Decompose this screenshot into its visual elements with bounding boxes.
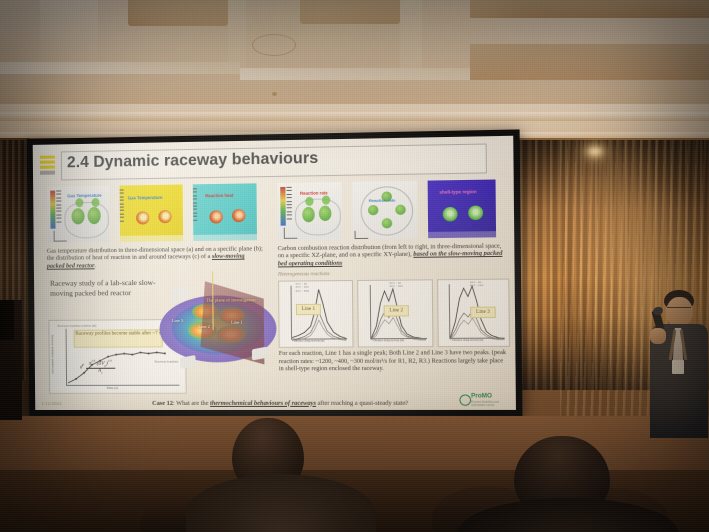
legend-item: R3 C + H2O	[296, 289, 309, 293]
thumb-label: Reaction rate	[369, 198, 396, 204]
render-label-plane: The plane of investigation	[206, 297, 255, 302]
footer-case-question: Case 12: What are the thermochemical beh…	[152, 399, 408, 406]
presentation-slide: 2.4 Dynamic raceway behaviours Gas Tempe…	[33, 136, 516, 410]
ceiling-coffer-edge	[40, 0, 98, 62]
case-emphasis: thermochemical behaviours of raceways	[210, 399, 316, 406]
ceiling-beam	[240, 68, 470, 80]
thumb-gas-temperature-plane: Gas Temperature	[120, 185, 184, 242]
render-label-line3: Line 3	[172, 318, 184, 323]
ceiling-beam	[0, 62, 240, 74]
caption-right: Carbon combustion reaction distribution …	[278, 243, 505, 268]
presenter-head	[666, 297, 693, 327]
thumb-label: Gas Temperature	[128, 195, 163, 201]
ceiling-coffer-recess	[128, 0, 228, 26]
chart-3-x-label: Distance along raceway (m)	[452, 339, 483, 342]
left-speaker-box	[0, 300, 14, 340]
presenter	[648, 288, 709, 438]
thumb-gas-temperature-3d: Gas Temperature	[47, 186, 110, 243]
presenter-badge	[672, 360, 684, 374]
raceway-3d-render: The plane of investigation Line 3 Line 2…	[155, 268, 281, 382]
ceiling-sprinkler	[272, 92, 277, 96]
promo-ring-icon	[459, 394, 471, 405]
promo-logo: ProMO Process Modelling and Optimisation…	[459, 392, 510, 408]
findings-text: For each reaction, Line 1 has a single p…	[279, 350, 508, 374]
thumb-reaction-rate-xz: Reaction rate	[352, 181, 418, 239]
conference-room-photo: 2.4 Dynamic raceway behaviours Gas Tempe…	[0, 0, 709, 532]
ceiling-coffer-recess	[300, 0, 400, 24]
ceiling-coffer-recess	[470, 44, 709, 80]
chart-2-title: Line 2	[384, 305, 409, 316]
chart-1-legend: R1 C + O2 R2 C + CO2 R3 C + H2O	[296, 282, 309, 292]
ceiling-coffer-recess	[470, 0, 709, 18]
promo-logo-text: ProMO	[471, 393, 492, 399]
case-text-a: : What are the	[173, 399, 210, 406]
audience-member-front-right	[472, 436, 662, 532]
chart-line-2: Line 2 R1 C + O2 R2 C + CO2 Distance alo…	[357, 279, 433, 347]
ceiling-vent-circle	[252, 34, 296, 56]
ceiling-spotlight	[588, 148, 602, 155]
slide-number: 33	[401, 401, 406, 406]
chart-line-1: Line 1 R1 C + O2 R2 C + CO2 R3 C + H2O D…	[278, 280, 354, 348]
projection-screen: 2.4 Dynamic raceway behaviours Gas Tempe…	[27, 129, 523, 416]
presenter-hand	[650, 328, 666, 344]
chart-x-axis-label: Time (s)	[106, 386, 118, 390]
caption-left-tail: .	[94, 263, 96, 269]
chart-3-legend: R1 C + O2 R2 C + CO2	[470, 281, 483, 288]
ceiling-coffer-edge	[228, 0, 246, 68]
chart-line-3: Line 3 R1 C + O2 R2 C + CO2 Distance alo…	[437, 279, 510, 348]
formula-raceway: dp π2/3 (6Vp)1/3 As	[80, 359, 115, 375]
footer-date: 1/12/2024	[41, 401, 62, 406]
microphone-head-icon	[652, 306, 664, 316]
thumb-label: Reaction rate	[300, 190, 328, 196]
caption-left: Gas temperature distribution in three-di…	[47, 246, 264, 271]
case-prefix: Case 12	[152, 399, 173, 406]
subhead-heterogeneous-reactions: Heterogeneous reactions	[278, 272, 330, 279]
legend-item: R2 C + CO2	[390, 285, 403, 289]
chart-2-legend: R1 C + O2 R2 C + CO2	[390, 282, 403, 289]
thumb-reaction-rate-3d: Reaction rate	[277, 182, 342, 240]
audience-shoulders	[458, 498, 678, 532]
audience-shoulders	[186, 474, 376, 532]
promo-logo-subtitle: Process Modelling and Optimisation group	[471, 401, 510, 408]
audience-member-front-left	[196, 418, 356, 532]
thumb-label: Reaction heat	[205, 193, 233, 198]
thumb-reaction-heat: Reaction heat	[193, 183, 257, 241]
thumb-label: Gas Temperature	[67, 193, 101, 199]
case-text-b: after reaching a quasi-steady state?	[316, 399, 408, 406]
chart-y-axis-label: Raceway boundary position (m)	[51, 335, 55, 374]
chart-1-x-label: Distance along raceway (m)	[294, 339, 324, 342]
render-label-line2: Line 2	[198, 324, 210, 329]
thumb-shell-type-region: shell-type region	[428, 179, 496, 238]
wall-cornice-trim	[0, 112, 709, 121]
chart-1-title: Line 1	[296, 304, 321, 315]
presenter-glasses-icon	[667, 307, 691, 312]
ceiling-coffer-edge	[400, 0, 422, 74]
thumb-label: shell-type region	[439, 189, 476, 195]
legend-item: R2 C + CO2	[470, 284, 483, 288]
chart-2-x-label: Distance along raceway (m)	[373, 339, 404, 342]
render-label-line1: Line 1	[231, 320, 243, 325]
study-heading: Raceway study of a lab-scale slow-moving…	[50, 278, 159, 299]
chart-3-title: Line 3	[470, 307, 496, 319]
university-logo	[40, 156, 55, 176]
